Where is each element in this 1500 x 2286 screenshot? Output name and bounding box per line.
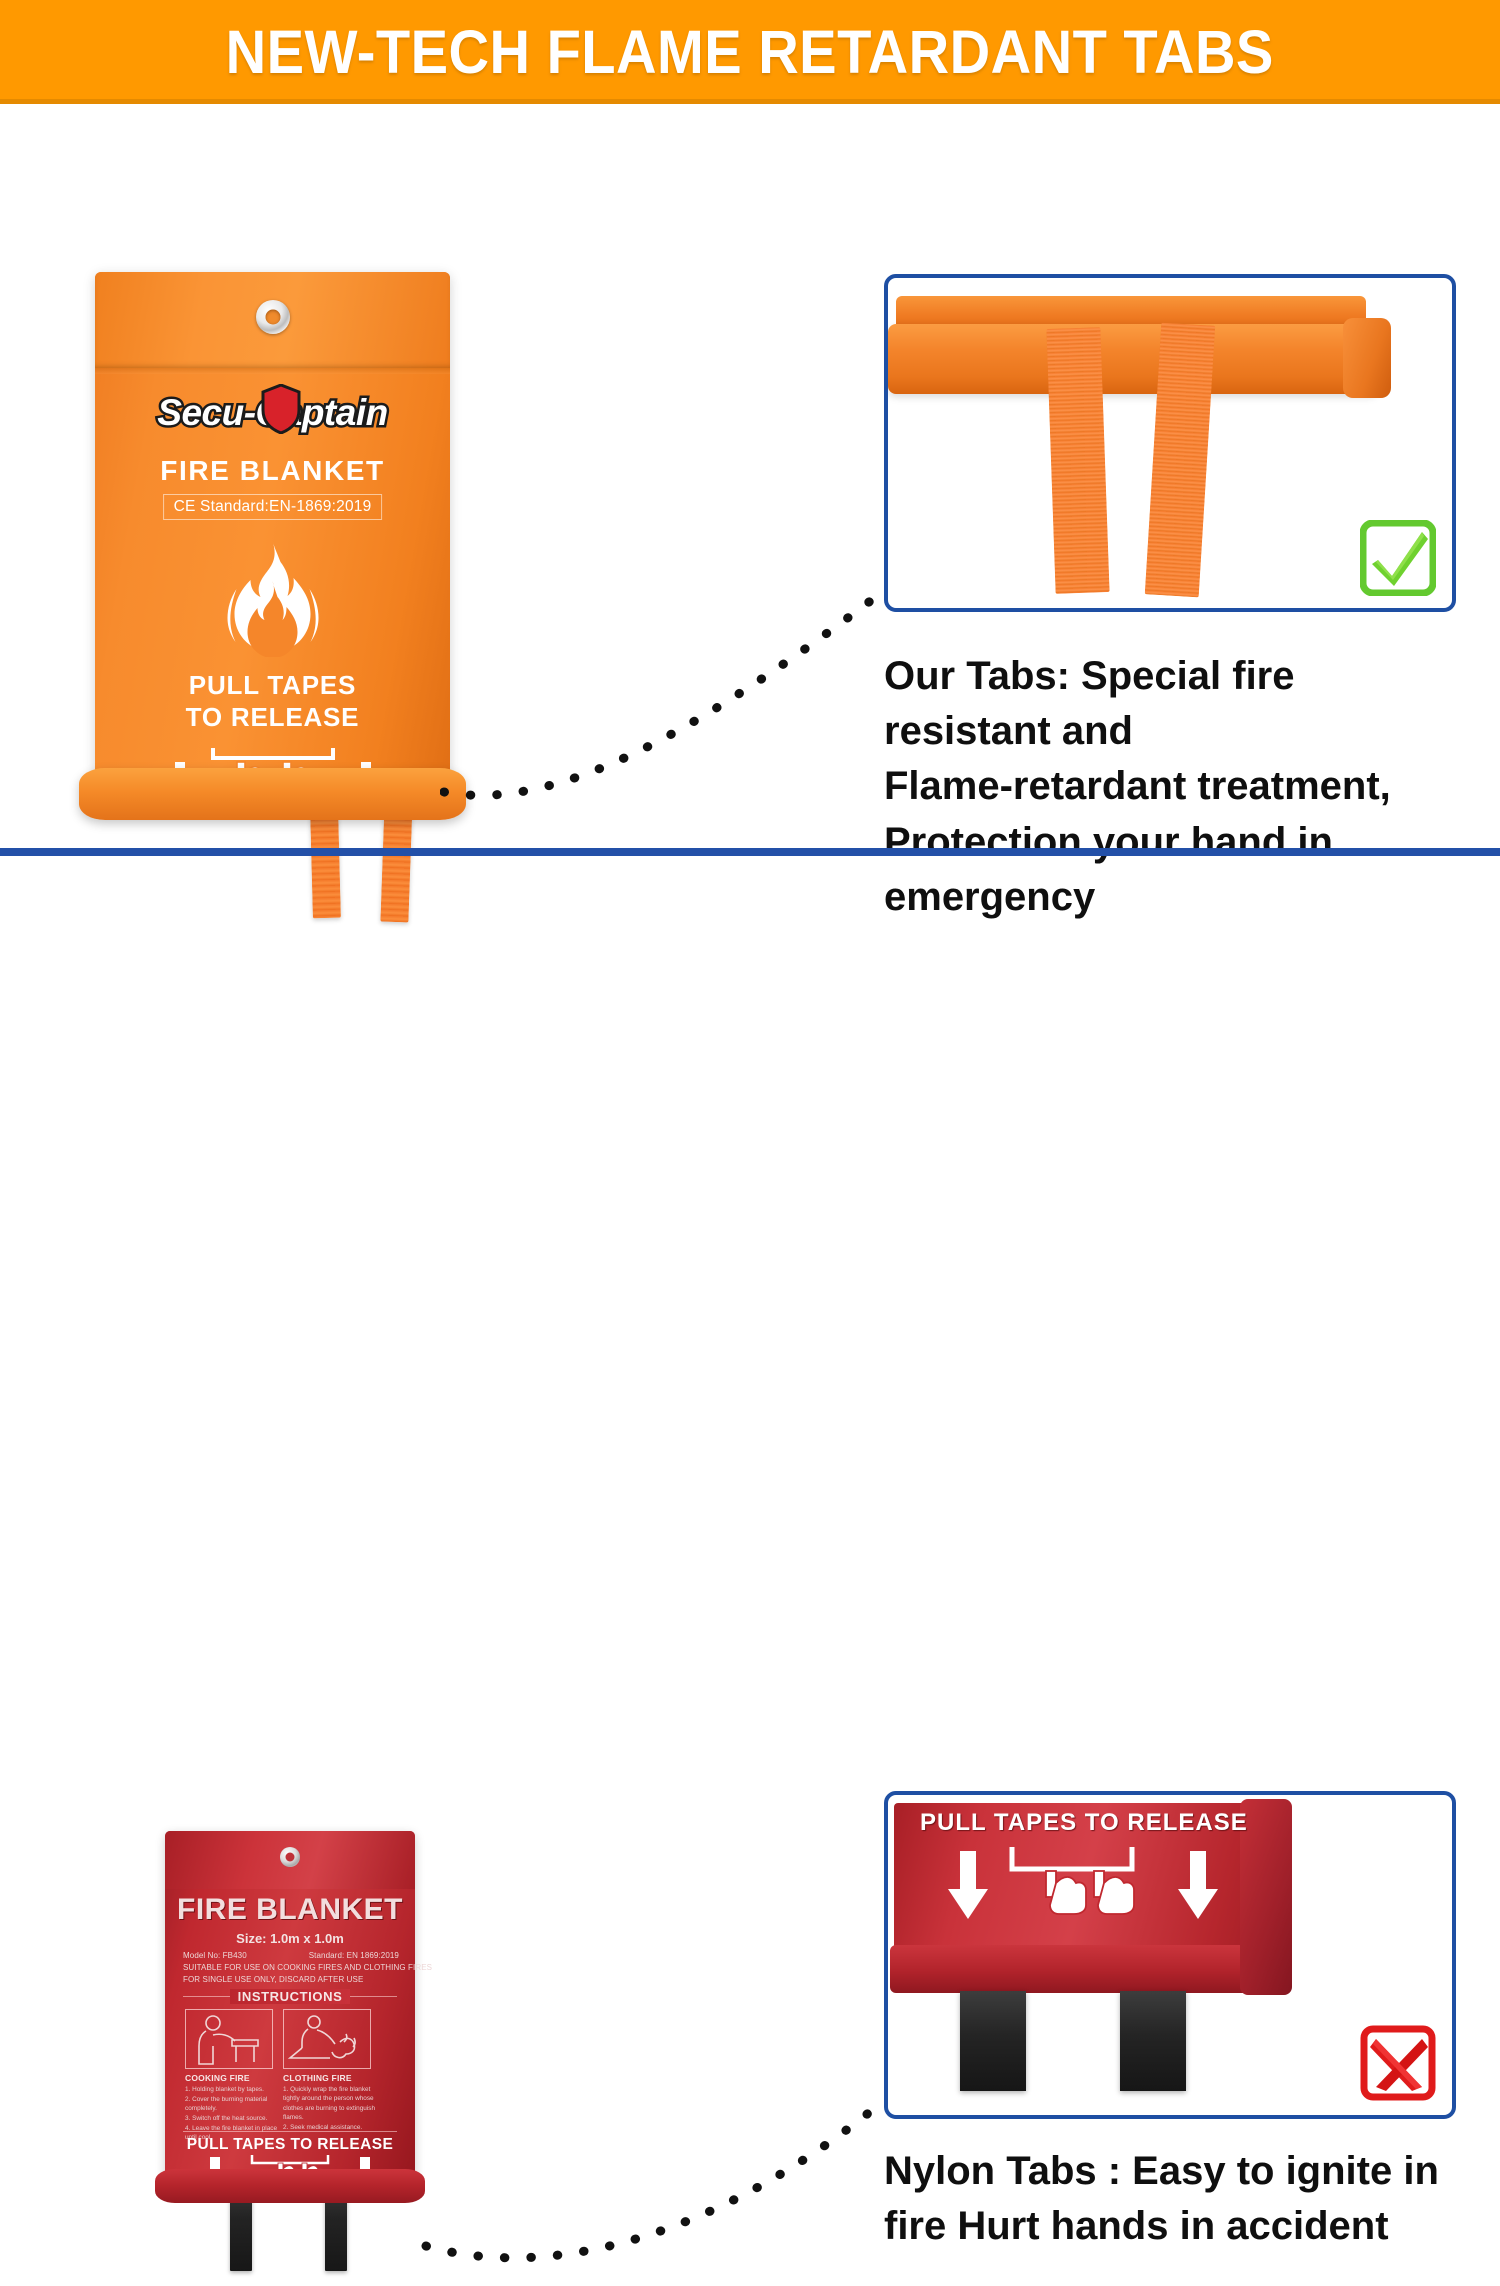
shield-icon	[261, 384, 301, 434]
red-use-note-2: FOR SINGLE USE ONLY, DISCARD AFTER USE	[183, 1975, 363, 1984]
page-title-text: NEW-TECH FLAME RETARDANT TABS	[226, 17, 1274, 87]
clothing-fire-steps: 1. Quickly wrap the fire blanket tightly…	[283, 2085, 379, 2132]
red-pull-label: PULL TAPES TO RELEASE	[165, 2136, 415, 2154]
hanging-grommet-icon	[256, 300, 290, 334]
package-standard-label: CE Standard:EN-1869:2019	[163, 494, 383, 520]
caption-bad-line-2: fire Hurt hands in accident	[884, 2199, 1484, 2254]
cooking-step-3: 3. Switch off the heat source.	[185, 2114, 281, 2123]
section-divider	[0, 848, 1500, 856]
cooking-step-1: 1. Holding blanket by tapes.	[185, 2085, 281, 2094]
red-fire-blanket-package: FIRE BLANKET Size: 1.0m x 1.0m Model No:…	[165, 1831, 415, 2261]
caption-bad-line-1: Nylon Tabs : Easy to ignite in	[884, 2144, 1484, 2199]
clothing-fire-title: CLOTHING FIRE	[283, 2073, 352, 2083]
inset-photo-fire-resistant-tabs	[884, 274, 1456, 612]
nylon-tabs-section: FIRE BLANKET Size: 1.0m x 1.0m Model No:…	[0, 856, 1500, 1412]
clothing-fire-icon	[284, 2010, 370, 2068]
header-banner: NEW-TECH FLAME RETARDANT TABS	[0, 0, 1500, 104]
inset-pull-label: PULL TAPES TO RELEASE	[920, 1809, 1248, 1837]
orange-fire-blanket-package: Secu-Captain FIRE BLANKET CE Standard:EN…	[95, 272, 450, 917]
package-pull-line-1: PULL TAPES	[95, 670, 450, 701]
nylon-tab-inset-right	[1120, 1991, 1186, 2091]
package-bottom-flap	[79, 768, 466, 820]
red-package-bottom-flap	[155, 2169, 425, 2203]
caption-nylon-tabs: Nylon Tabs : Easy to ignite in fire Hurt…	[884, 2144, 1484, 2254]
inset-photo-nylon-tabs: PULL TAPES TO RELEASE	[884, 1791, 1456, 2119]
page-title: NEW-TECH FLAME RETARDANT TABS	[0, 17, 1500, 87]
red-x-icon	[1360, 2025, 1436, 2101]
caption-line-2: resistant and	[884, 704, 1484, 759]
roll-end-cap	[1343, 318, 1391, 398]
our-tabs-section: Secu-Captain FIRE BLANKET CE Standard:EN…	[0, 104, 1500, 848]
red-roll-bottom-flap	[890, 1945, 1288, 1993]
roll-body	[888, 324, 1378, 394]
clothing-fire-pictogram-box	[283, 2009, 371, 2069]
check-mark-icon	[1360, 520, 1436, 596]
caption-line-1: Our Tabs: Special fire	[884, 649, 1484, 704]
red-model-number: Model No: FB430	[183, 1951, 247, 1960]
nylon-tab-inset-left	[960, 1991, 1026, 2091]
cooking-fire-title: COOKING FIRE	[185, 2073, 250, 2083]
red-standard: Standard: EN 1869:2019	[309, 1951, 399, 1960]
red-package-body: FIRE BLANKET Size: 1.0m x 1.0m Model No:…	[165, 1831, 415, 2181]
cooking-fire-icon	[186, 2010, 272, 2068]
connector-line-bottom	[420, 2086, 890, 2286]
red-use-note-1: SUITABLE FOR USE ON COOKING FIRES AND CL…	[183, 1963, 432, 1972]
clothing-step-1: 1. Quickly wrap the fire blanket tightly…	[283, 2085, 379, 2122]
red-roll-end-cap	[1240, 1799, 1292, 1995]
red-product-name: FIRE BLANKET	[165, 1893, 415, 1927]
cooking-fire-steps: 1. Holding blanket by tapes. 2. Cover th…	[185, 2085, 281, 2143]
package-pull-line-2: TO RELEASE	[95, 702, 450, 733]
red-product-size: Size: 1.0m x 1.0m	[165, 1931, 415, 1946]
red-instructions-header-text: INSTRUCTIONS	[230, 1989, 351, 2004]
cooking-fire-pictogram-box	[185, 2009, 273, 2069]
package-body: Secu-Captain FIRE BLANKET CE Standard:EN…	[95, 272, 450, 782]
package-product-name: FIRE BLANKET	[95, 455, 450, 487]
connector-line-top	[440, 574, 900, 824]
cooking-step-2: 2. Cover the burning material completely…	[185, 2095, 281, 2114]
red-instructions-header: INSTRUCTIONS	[165, 1989, 415, 2004]
inset-pull-pictogram	[934, 1843, 1244, 1933]
red-hanging-grommet-icon	[280, 1847, 300, 1867]
caption-line-3: Flame-retardant treatment,	[884, 759, 1484, 814]
flame-icon	[205, 537, 340, 657]
fire-resistant-tab-left	[1046, 327, 1109, 594]
red-rule-bottom	[183, 2131, 397, 2132]
